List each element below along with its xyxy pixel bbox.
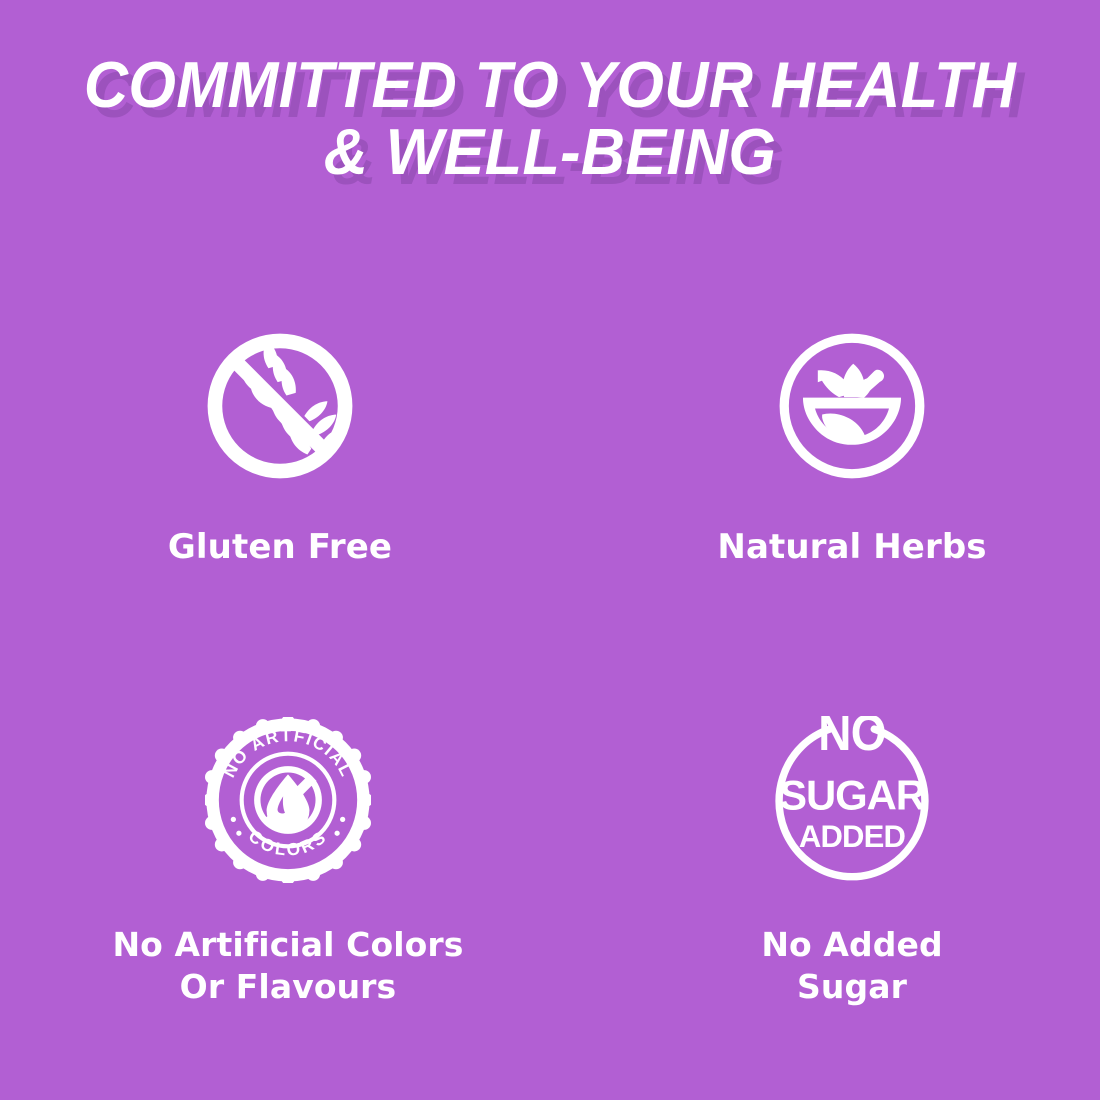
badge-no-artificial-colors: NO ARTFICIAL COLORS <box>58 710 518 1008</box>
page-title: COMMITTED TO YOUR HEALTH & WELL-BEING <box>0 52 1100 186</box>
promo-poster: COMMITTED TO YOUR HEALTH & WELL-BEING <box>0 0 1100 1100</box>
no-gluten-icon <box>50 316 510 496</box>
stamp-line-added: ADDED <box>799 819 906 854</box>
mortar-pestle-herbs-icon <box>622 316 1082 496</box>
badge-label: No Added Sugar <box>622 924 1082 1008</box>
badge-natural-herbs: Natural Herbs <box>622 316 1082 570</box>
stamp-line-no: NO <box>818 716 885 762</box>
page-title-line-1: COMMITTED TO YOUR HEALTH <box>33 52 1067 119</box>
badge-label: No Artificial Colors Or Flavours <box>58 924 518 1008</box>
badge-label: Natural Herbs <box>622 526 1082 570</box>
benefit-badge-grid: Gluten Free <box>0 300 1100 1060</box>
badge-no-added-sugar: NO SUGAR ADDED No Added Sugar <box>622 710 1082 1008</box>
no-artificial-colors-seal-icon: NO ARTFICIAL COLORS <box>58 710 518 890</box>
badge-gluten-free: Gluten Free <box>50 316 510 570</box>
no-sugar-added-icon: NO SUGAR ADDED <box>622 710 1082 890</box>
badge-label: Gluten Free <box>50 526 510 570</box>
stamp-line-sugar: SUGAR <box>779 771 926 818</box>
page-title-line-2: & WELL-BEING <box>33 119 1067 186</box>
